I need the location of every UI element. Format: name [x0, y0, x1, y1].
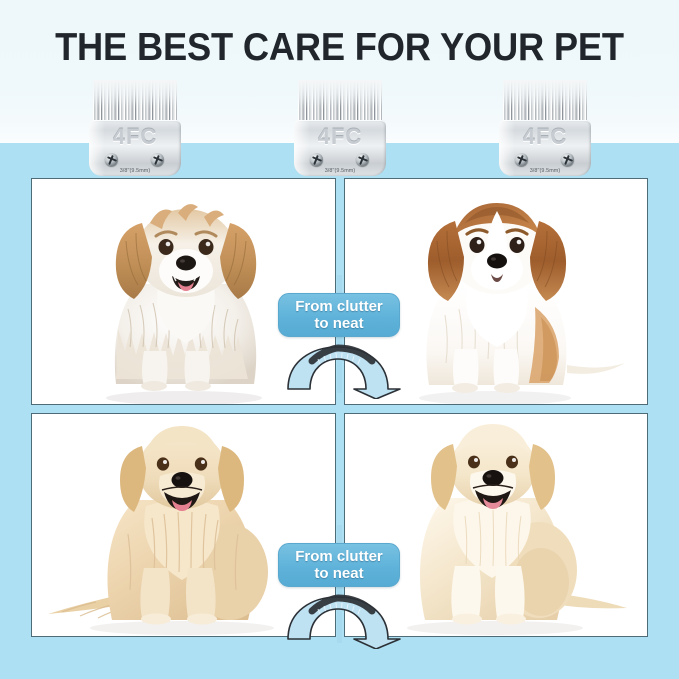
clipper-blade-1: 4FC 3/8"(9.5mm): [85, 80, 185, 176]
blade-body: 4FC 3/8"(9.5mm): [499, 120, 591, 176]
callout-line-2: to neat: [314, 565, 363, 582]
blade-teeth: [503, 80, 587, 124]
blade-teeth: [298, 80, 382, 124]
blade-teeth: [93, 80, 177, 124]
panel-gutter-horizontal: [31, 405, 648, 413]
page-title: THE BEST CARE FOR YOUR PET: [24, 26, 655, 70]
blade-size-label: 3/8"(9.5mm): [89, 168, 181, 174]
blade-code-label: 4FC: [294, 124, 386, 150]
blade-code-label: 4FC: [499, 124, 591, 150]
blade-body: 4FC 3/8"(9.5mm): [294, 120, 386, 176]
callout-line-1: From clutter: [295, 548, 383, 565]
clipper-blade-2: 4FC 3/8"(9.5mm): [290, 80, 390, 176]
blade-screw-left: [310, 153, 323, 166]
callout-line-1: From clutter: [295, 298, 383, 315]
blade-screw-left: [105, 153, 118, 166]
product-marketing-image: THE BEST CARE FOR YOUR PET 4FC 3/8"(9.5m…: [0, 0, 679, 679]
blade-screw-left: [515, 153, 528, 166]
blade-screw-right: [151, 153, 164, 166]
curved-arrow-icon: [276, 337, 402, 399]
callout-badge: From clutterto neat: [278, 543, 400, 587]
callout-line-2: to neat: [314, 315, 363, 332]
blade-body: 4FC 3/8"(9.5mm): [89, 120, 181, 176]
clipper-blade-3: 4FC 3/8"(9.5mm): [495, 80, 595, 176]
callout-badge: From clutterto neat: [278, 293, 400, 337]
blade-screw-right: [561, 153, 574, 166]
blade-size-label: 3/8"(9.5mm): [294, 168, 386, 174]
blade-size-label: 3/8"(9.5mm): [499, 168, 591, 174]
blade-code-label: 4FC: [89, 124, 181, 150]
callout-text: From clutterto neat: [295, 298, 383, 332]
blade-screw-right: [356, 153, 369, 166]
curved-arrow-icon: [276, 587, 402, 649]
callout-text: From clutterto neat: [295, 548, 383, 582]
